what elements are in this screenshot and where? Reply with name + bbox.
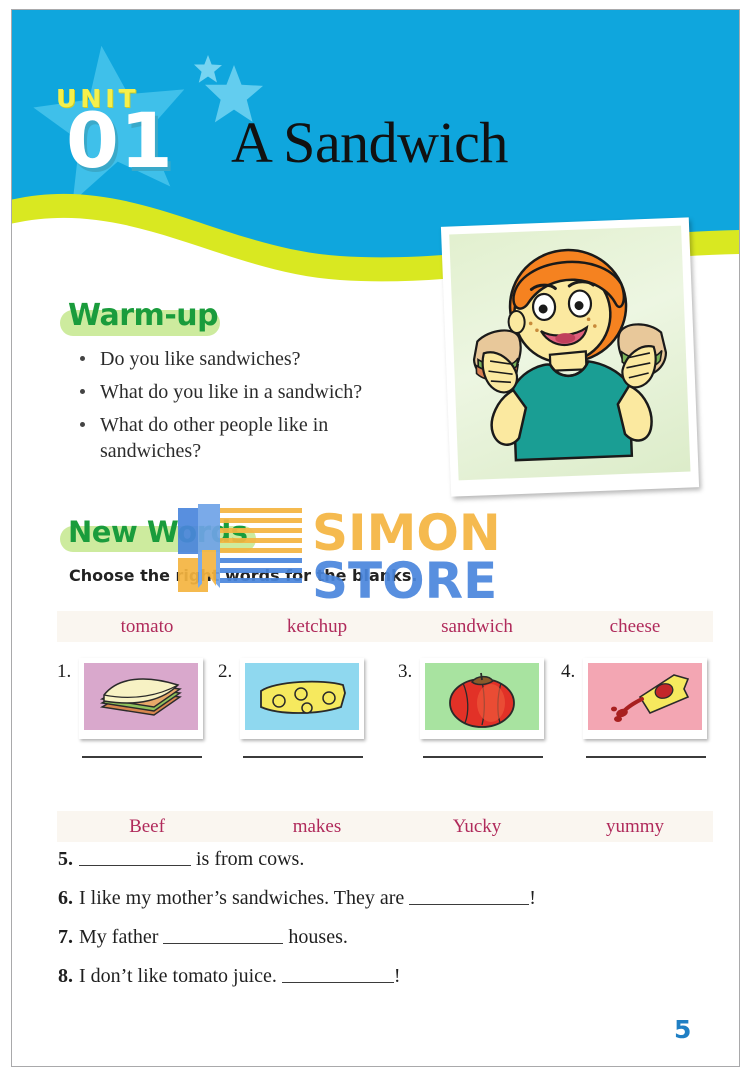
list-item: What do you like in a sandwich? — [74, 379, 424, 405]
sentence-number: 5. — [58, 848, 73, 870]
warmup-heading: Warm-up — [68, 298, 218, 333]
picture-item-row: 1. 2. — [57, 658, 727, 773]
picture-frame — [420, 658, 544, 739]
answer-blank[interactable] — [163, 927, 283, 944]
list-item: What do other people like in sandwiches? — [74, 412, 424, 464]
warmup-question-list: Do you like sandwiches? What do you like… — [74, 346, 424, 471]
word-bank-item[interactable]: Beef — [57, 816, 237, 838]
warmup-question-text: What do other people like in sandwiches? — [100, 414, 328, 462]
unit-number: 01 — [66, 96, 174, 185]
answer-blank[interactable] — [409, 888, 529, 905]
newwords-heading-text: New Words — [68, 515, 248, 549]
sentence-item-7: 7.My father houses. — [58, 926, 698, 949]
bullet-icon — [80, 389, 85, 394]
picture-frame — [79, 658, 203, 739]
answer-line[interactable] — [82, 756, 202, 758]
sentence-text-after: ! — [529, 887, 536, 909]
page-number: 5 — [674, 1015, 691, 1044]
page-title: A Sandwich — [231, 109, 508, 176]
cheese-picture — [245, 663, 359, 730]
item-number: 1. — [57, 661, 71, 683]
list-item: Do you like sandwiches? — [74, 346, 424, 372]
picture-frame — [240, 658, 364, 739]
item-number: 2. — [218, 661, 232, 683]
illustration-photo-card — [441, 217, 699, 496]
bullet-icon — [80, 422, 85, 427]
item-number: 4. — [561, 661, 575, 683]
boy-holding-sandwiches-icon — [449, 226, 690, 481]
warmup-question-text: Do you like sandwiches? — [100, 348, 301, 370]
bullet-icon — [80, 356, 85, 361]
watermark-line1: SIMON — [312, 504, 501, 562]
word-bank-item[interactable]: tomato — [57, 616, 237, 638]
answer-blank[interactable] — [282, 966, 394, 983]
word-bank-item[interactable]: ketchup — [237, 616, 397, 638]
warmup-question-text: What do you like in a sandwich? — [100, 381, 362, 403]
sentence-item-5: 5. is from cows. — [58, 848, 698, 871]
word-bank-item[interactable]: sandwich — [397, 616, 557, 638]
textbook-page: UNIT 01 A Sandwich Warm-up Do you like s… — [11, 9, 740, 1067]
sentence-number: 6. — [58, 887, 73, 909]
star-decoration-small-icon — [194, 55, 222, 83]
sentence-exercise-list: 5. is from cows. 6.I like my mother’s sa… — [58, 848, 698, 1004]
picture-frame — [583, 658, 707, 739]
word-bank-item[interactable]: Yucky — [397, 816, 557, 838]
word-bank-2: Beef makes Yucky yummy — [57, 811, 713, 842]
sentence-text-before: My father — [79, 926, 163, 948]
answer-line[interactable] — [586, 756, 706, 758]
warmup-heading-text: Warm-up — [68, 298, 218, 333]
newwords-heading: New Words — [68, 515, 248, 549]
item-number: 3. — [398, 661, 412, 683]
sentence-text-after: houses. — [283, 926, 347, 948]
sentence-item-6: 6.I like my mother’s sandwiches. They ar… — [58, 887, 698, 910]
illustration-image — [449, 226, 690, 481]
sentence-number: 7. — [58, 926, 73, 948]
word-bank-item[interactable]: cheese — [557, 616, 713, 638]
sentence-text-after: ! — [394, 965, 401, 987]
sentence-item-8: 8.I don’t like tomato juice. ! — [58, 965, 698, 988]
word-bank-item[interactable]: yummy — [557, 816, 713, 838]
sandwich-picture — [84, 663, 198, 730]
ketchup-picture — [588, 663, 702, 730]
sentence-text-before: I don’t like tomato juice. — [79, 965, 282, 987]
answer-line[interactable] — [423, 756, 543, 758]
sentence-number: 8. — [58, 965, 73, 987]
answer-line[interactable] — [243, 756, 363, 758]
word-bank-item[interactable]: makes — [237, 816, 397, 838]
sentence-text-before: I like my mother’s sandwiches. They are — [79, 887, 409, 909]
word-bank-1: tomato ketchup sandwich cheese — [57, 611, 713, 642]
instruction-text: Choose the right words for the blanks. — [69, 566, 417, 585]
answer-blank[interactable] — [79, 849, 191, 866]
sentence-text-after: is from cows. — [191, 848, 304, 870]
tomato-picture — [425, 663, 539, 730]
